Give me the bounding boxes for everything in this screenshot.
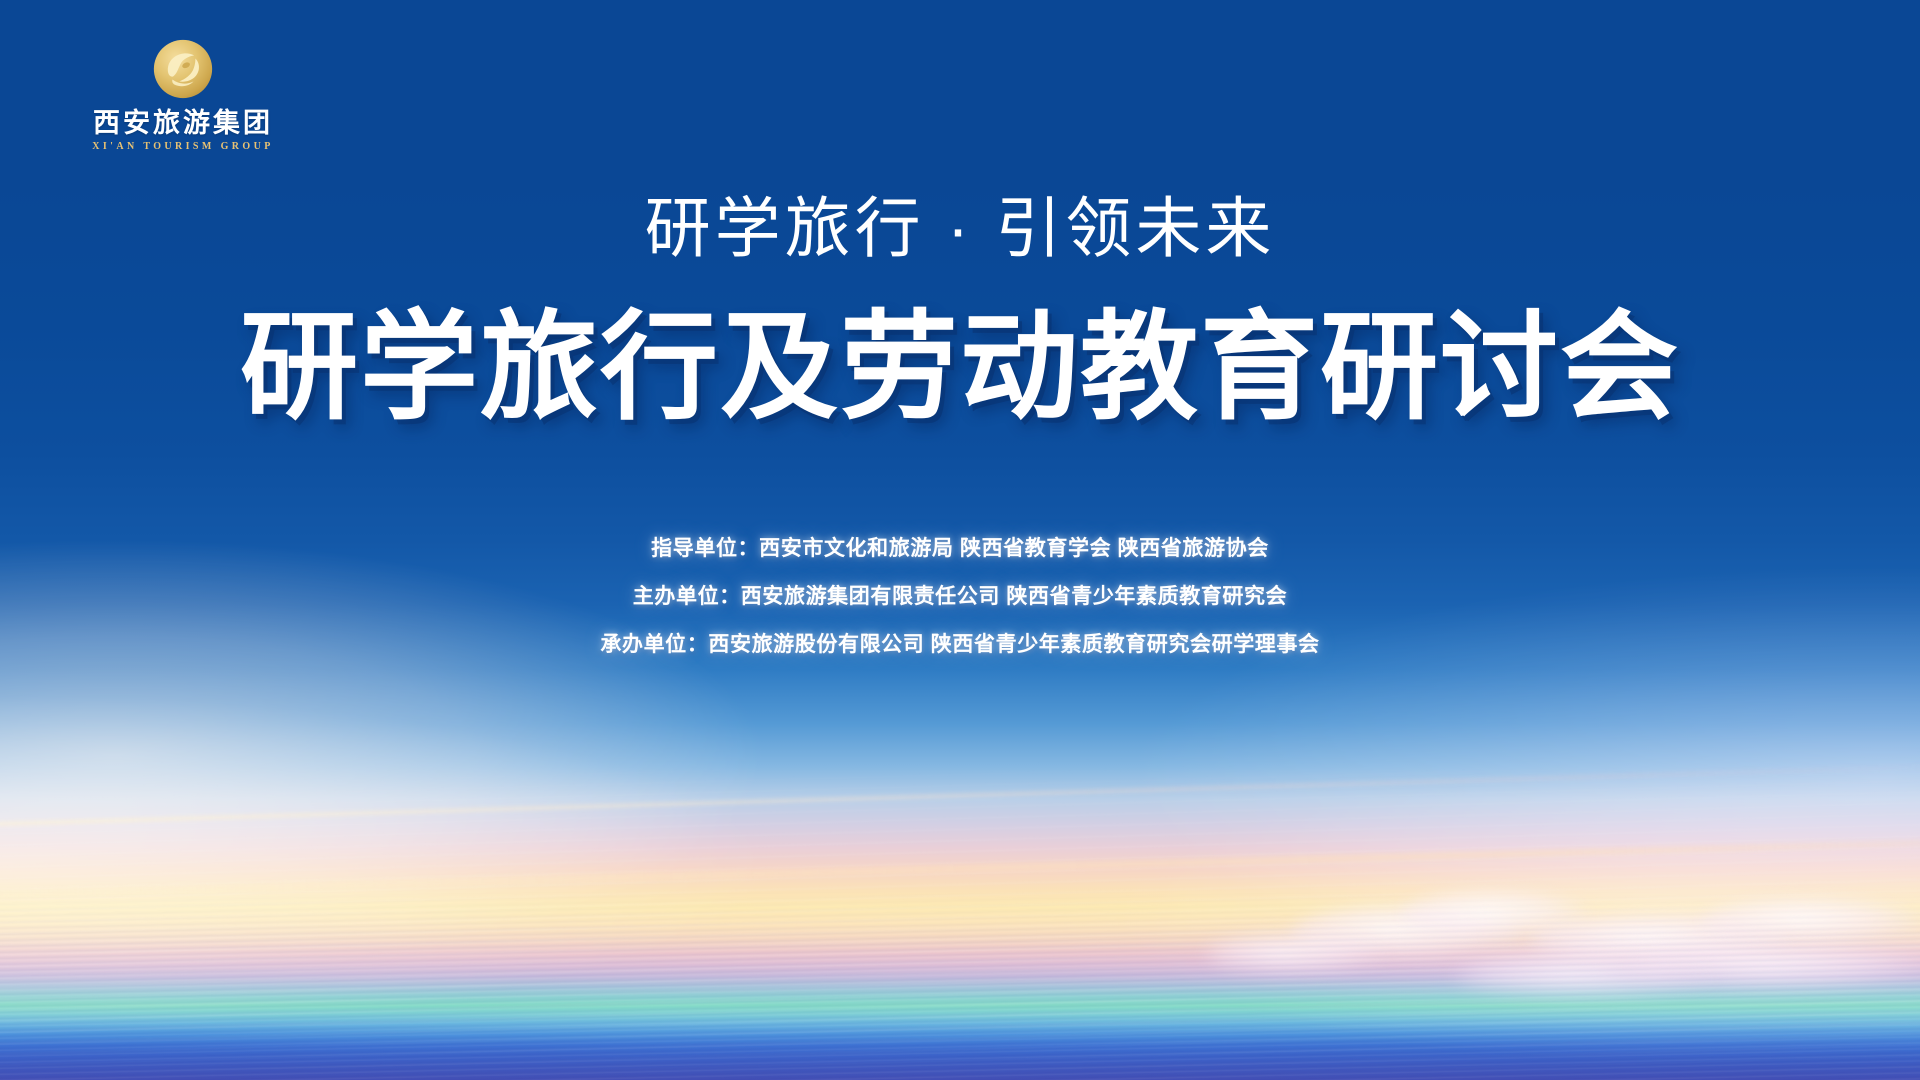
cloud-shape [1205,935,1385,973]
poster-title: 研学旅行及劳动教育研讨会 [0,300,1920,436]
brand-logo: 西安旅游集团 XI'AN TOURISM GROUP [78,38,288,152]
poster-subtitle: 研学旅行 · 引领未来 [0,192,1920,265]
horizon-line-upper [0,762,1920,829]
organizer-line-host: 主办单位：西安旅游集团有限责任公司 陕西省青少年素质教育研究会 [0,586,1920,607]
horizon-line-lower [0,838,1920,899]
cloud-shape [1290,905,1520,959]
cloud-shape [1455,955,1715,995]
sea-surface-texture [0,890,1920,1080]
cloud-shape [1700,898,1920,944]
cloud-shape [1400,890,1590,938]
event-poster: 西安旅游集团 XI'AN TOURISM GROUP 研学旅行 · 引领未来 研… [0,0,1920,1080]
organizer-line-guidance: 指导单位：西安市文化和旅游局 陕西省教育学会 陕西省旅游协会 [0,538,1920,559]
organizer-line-organizer: 承办单位：西安旅游股份有限公司 陕西省青少年素质教育研究会研学理事会 [0,634,1920,655]
logo-name-cn: 西安旅游集团 [78,110,288,137]
cloud-shape [1530,915,1790,965]
cloud-shape [1630,945,1920,987]
organizer-block: 指导单位：西安市文化和旅游局 陕西省教育学会 陕西省旅游协会 主办单位：西安旅游… [0,538,1920,655]
phoenix-emblem-icon [152,38,214,100]
logo-name-en: XI'AN TOURISM GROUP [78,142,288,152]
